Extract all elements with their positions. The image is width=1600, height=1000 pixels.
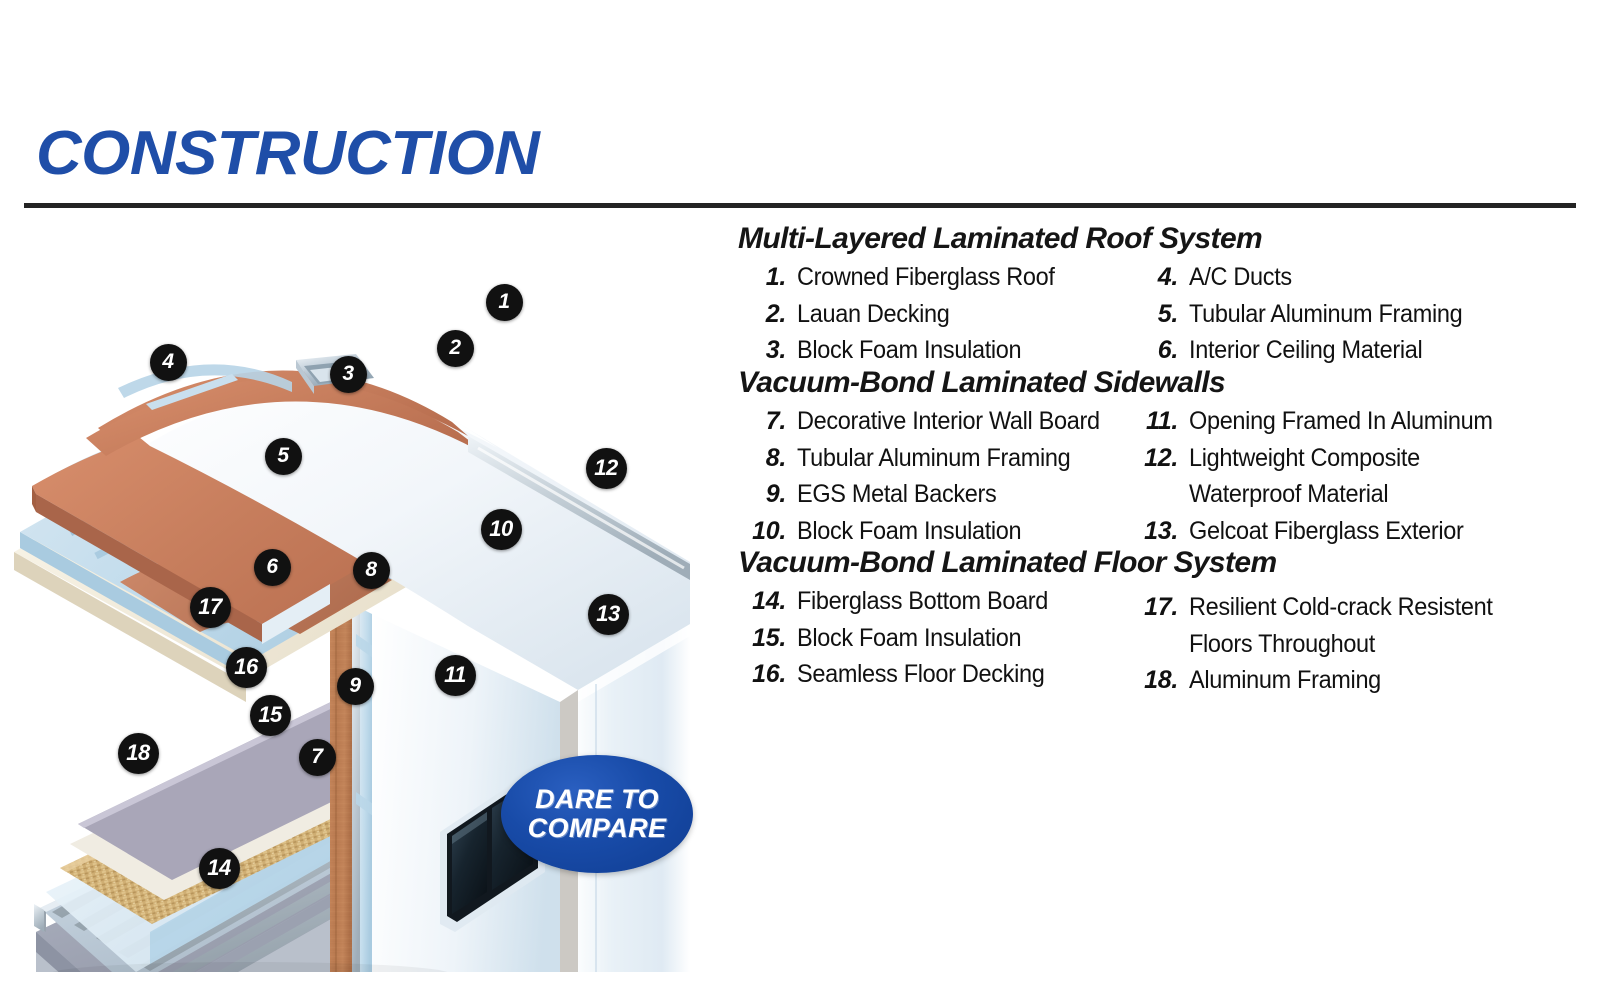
legend-item-number: 3. [744,333,797,369]
legend-column-left: 1.Crowned Fiberglass Roof2.Lauan Decking… [744,260,1164,370]
legend-item-number: 11. [1136,404,1189,440]
dare-to-compare-badge[interactable]: DARE TO COMPARE [501,755,693,873]
callout-badge-label: 5 [277,444,288,468]
legend-item-number: 16. [744,657,797,693]
callout-badge-14[interactable]: 14 [199,848,240,889]
callout-badge-4[interactable]: 4 [150,344,187,381]
legend-item: 2.Lauan Decking [744,297,1164,333]
legend-item-label: Gelcoat Fiberglass Exterior [1189,514,1464,550]
legend-item-label: Lauan Decking [797,297,950,333]
callout-badge-label: 4 [162,350,173,374]
legend-item: 10.Block Foam Insulation [744,514,1164,550]
callout-badge-15[interactable]: 15 [250,695,291,736]
legend-item: 9.EGS Metal Backers [744,477,1164,513]
title-divider [24,203,1576,208]
legend-item-number: 5. [1136,297,1189,333]
callout-badge-13[interactable]: 13 [588,594,629,635]
legend-item-continuation: Floors Throughout [1136,627,1576,663]
legend-item: 15.Block Foam Insulation [744,621,1164,657]
legend-item-label: Floors Throughout [1189,627,1375,663]
callout-badge-7[interactable]: 7 [299,739,336,776]
legend-item: 13.Gelcoat Fiberglass Exterior [1136,514,1576,550]
legend-section-heading: Multi-Layered Laminated Roof System [738,224,1578,254]
legend-item-label: EGS Metal Backers [797,477,996,513]
dare-line-1: DARE TO [535,785,659,814]
callout-badge-label: 7 [311,745,322,769]
callout-badge-3[interactable]: 3 [330,356,367,393]
legend-item-label: Block Foam Insulation [797,333,1021,369]
legend-item-number: 15. [744,621,797,657]
legend-item-number: 13. [1136,514,1189,550]
legend-item-label: Fiberglass Bottom Board [797,584,1048,620]
legend-item-label: Aluminum Framing [1189,663,1381,699]
legend-item-label: Opening Framed In Aluminum [1189,404,1493,440]
legend-column-left: 7.Decorative Interior Wall Board8.Tubula… [744,404,1164,550]
callout-badge-label: 12 [594,455,617,481]
legend-section: Multi-Layered Laminated Roof System1.Cro… [738,224,1578,368]
legend-item-label: Decorative Interior Wall Board [797,404,1100,440]
callout-badge-label: 17 [198,594,221,620]
callout-badge-18[interactable]: 18 [118,733,159,774]
callout-badge-label: 6 [266,555,277,579]
callout-badge-16[interactable]: 16 [226,647,267,688]
legend-item-number: 8. [744,441,797,477]
callout-badge-label: 9 [349,674,360,698]
legend-item-number: 17. [1136,590,1189,626]
legend-item-label: Resilient Cold-crack Resistent [1189,590,1493,626]
callout-badge-label: 3 [342,362,353,386]
callout-badge-label: 13 [596,601,619,627]
callout-badge-10[interactable]: 10 [481,509,522,550]
legend-column-right: 4.A/C Ducts5.Tubular Aluminum Framing6.I… [1136,260,1576,370]
callout-badge-2[interactable]: 2 [437,330,474,367]
legend-item-label: A/C Ducts [1189,260,1292,296]
legend-item: 5.Tubular Aluminum Framing [1136,297,1576,333]
callout-badge-9[interactable]: 9 [337,668,374,705]
callout-badge-label: 14 [207,855,230,881]
callout-badge-17[interactable]: 17 [190,587,231,628]
poster-canvas: CONSTRUCTION [0,0,1600,1000]
callout-badge-12[interactable]: 12 [586,448,627,489]
callout-badge-1[interactable]: 1 [486,284,523,321]
legend-panel: Multi-Layered Laminated Roof System1.Cro… [738,224,1578,692]
wall-metal-backers [352,604,360,972]
dare-line-2: COMPARE [528,814,667,843]
legend-column-left: 14.Fiberglass Bottom Board15.Block Foam … [744,584,1164,694]
legend-item-number: 1. [744,260,797,296]
legend-item-number: 7. [744,404,797,440]
legend-item-number: 12. [1136,441,1189,477]
legend-section-heading: Vacuum-Bond Laminated Floor System [738,548,1578,578]
legend-columns: 1.Crowned Fiberglass Roof2.Lauan Decking… [738,260,1578,368]
legend-item: 8.Tubular Aluminum Framing [744,441,1164,477]
callout-badge-label: 11 [444,662,466,688]
callout-badge-8[interactable]: 8 [353,552,390,589]
legend-item: 12.Lightweight Composite [1136,441,1576,477]
legend-section: Vacuum-Bond Laminated Sidewalls7.Decorat… [738,368,1578,548]
callout-badge-label: 16 [234,654,257,680]
legend-item: 14.Fiberglass Bottom Board [744,584,1164,620]
legend-item-label: Block Foam Insulation [797,621,1021,657]
page-title: CONSTRUCTION [36,118,539,189]
legend-columns: 7.Decorative Interior Wall Board8.Tubula… [738,404,1578,548]
legend-item-label: Lightweight Composite [1189,441,1420,477]
legend-columns: 14.Fiberglass Bottom Board15.Block Foam … [738,584,1578,692]
legend-item: 3.Block Foam Insulation [744,333,1164,369]
callout-badge-5[interactable]: 5 [265,438,302,475]
legend-item-number: 2. [744,297,797,333]
legend-item-label: Block Foam Insulation [797,514,1021,550]
legend-item: 7.Decorative Interior Wall Board [744,404,1164,440]
legend-item: 17.Resilient Cold-crack Resistent [1136,590,1576,626]
callout-badge-6[interactable]: 6 [254,549,291,586]
legend-item-number: 4. [1136,260,1189,296]
legend-item: 1.Crowned Fiberglass Roof [744,260,1164,296]
wall-framing [360,608,372,972]
legend-item: 16.Seamless Floor Decking [744,657,1164,693]
legend-item-label: Seamless Floor Decking [797,657,1044,693]
legend-column-right: 17.Resilient Cold-crack ResistentFloors … [1136,590,1576,700]
legend-item-number: 14. [744,584,797,620]
legend-item-number: 10. [744,514,797,550]
legend-item: 11.Opening Framed In Aluminum [1136,404,1576,440]
legend-item: 4.A/C Ducts [1136,260,1576,296]
legend-item-number: 6. [1136,333,1189,369]
legend-item-label: Interior Ceiling Material [1189,333,1422,369]
callout-badge-label: 2 [449,336,460,360]
callout-badge-label: 18 [126,740,149,766]
legend-item-label: Waterproof Material [1189,477,1388,513]
legend-item-label: Tubular Aluminum Framing [797,441,1070,477]
legend-item: 18.Aluminum Framing [1136,663,1576,699]
legend-item-continuation: Waterproof Material [1136,477,1576,513]
callout-badge-11[interactable]: 11 [435,655,476,696]
legend-item-label: Crowned Fiberglass Roof [797,260,1055,296]
legend-item-number: 9. [744,477,797,513]
legend-section-heading: Vacuum-Bond Laminated Sidewalls [738,368,1578,398]
callout-badge-label: 1 [498,290,509,314]
legend-section: Vacuum-Bond Laminated Floor System14.Fib… [738,548,1578,692]
callout-badge-label: 10 [489,516,512,542]
callout-badge-label: 15 [258,702,281,728]
legend-column-right: 11.Opening Framed In Aluminum12.Lightwei… [1136,404,1576,550]
legend-item-number: 18. [1136,663,1189,699]
legend-item-label: Tubular Aluminum Framing [1189,297,1462,333]
legend-item: 6.Interior Ceiling Material [1136,333,1576,369]
callout-badge-label: 8 [365,558,376,582]
